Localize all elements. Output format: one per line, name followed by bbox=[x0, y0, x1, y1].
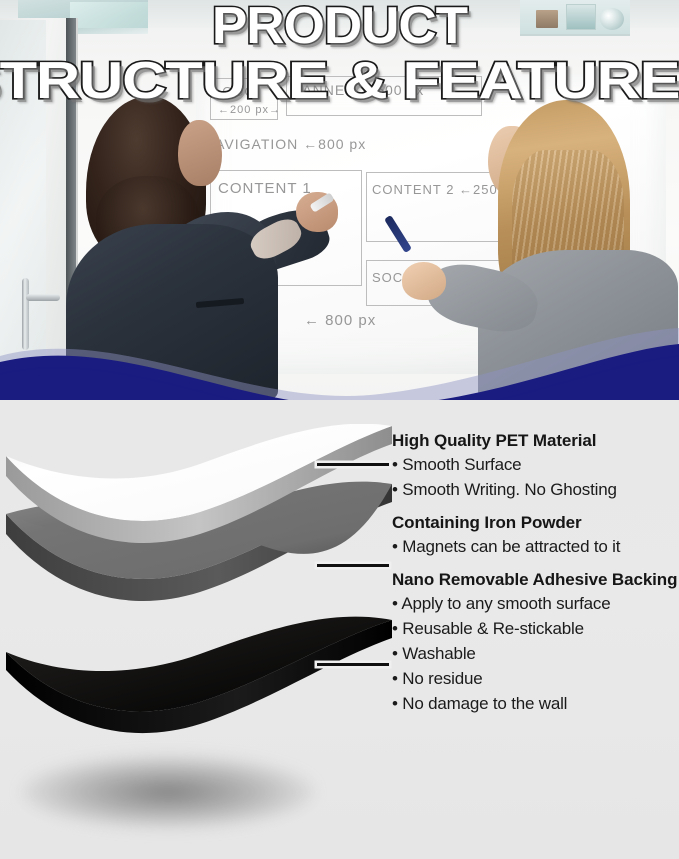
feature-bullet-list: Smooth SurfaceSmooth Writing. No Ghostin… bbox=[392, 452, 679, 502]
page-title: PRODUCT STRUCTURE & FEATURES bbox=[0, 0, 679, 107]
leader-line-pet bbox=[317, 463, 389, 466]
feature-heading: High Quality PET Material bbox=[392, 430, 679, 452]
person-left-body bbox=[66, 224, 278, 400]
leader-line-iron bbox=[317, 564, 389, 567]
person-right-hand bbox=[402, 262, 446, 300]
title-line-2: STRUCTURE & FEATURES bbox=[0, 57, 679, 106]
product-infographic: LOGO←200 px→BANNER ←500 pxNAVIGATION ←80… bbox=[0, 0, 679, 859]
feature-bullet: Smooth Surface bbox=[392, 452, 679, 477]
feature-bullet: Magnets can be attracted to it bbox=[392, 534, 679, 559]
feature-bullet: Apply to any smooth surface bbox=[392, 591, 679, 616]
sheet-black bbox=[6, 617, 392, 733]
leader-line-adhesive bbox=[317, 663, 389, 666]
feature-heading: Nano Removable Adhesive Backing bbox=[392, 569, 679, 591]
feature-bullet: No damage to the wall bbox=[392, 691, 679, 716]
whiteboard-note-8: ← 800 px bbox=[304, 312, 376, 329]
title-line-1: PRODUCT bbox=[0, 2, 679, 51]
feature-block-iron-powder-layer: Containing Iron PowderMagnets can be att… bbox=[392, 512, 679, 559]
feature-block-pet-layer: High Quality PET MaterialSmooth SurfaceS… bbox=[392, 430, 679, 502]
whiteboard-note-4: CONTENT 1 bbox=[218, 180, 312, 197]
feature-bullet: Reusable & Re-stickable bbox=[392, 616, 679, 641]
door-handle-bar bbox=[22, 278, 29, 350]
person-left-face bbox=[178, 120, 222, 186]
whiteboard-note-3: NAVIGATION ←800 px bbox=[204, 136, 366, 152]
feature-block-adhesive-layer: Nano Removable Adhesive BackingApply to … bbox=[392, 569, 679, 716]
feature-bullet: Washable bbox=[392, 641, 679, 666]
feature-text-column: High Quality PET MaterialSmooth SurfaceS… bbox=[392, 430, 679, 726]
feature-bullet: No residue bbox=[392, 666, 679, 691]
feature-heading: Containing Iron Powder bbox=[392, 512, 679, 534]
feature-bullet-list: Magnets can be attracted to it bbox=[392, 534, 679, 559]
feature-bullet: Smooth Writing. No Ghosting bbox=[392, 477, 679, 502]
feature-bullet-list: Apply to any smooth surfaceReusable & Re… bbox=[392, 591, 679, 716]
layer-stack-illustration bbox=[0, 424, 400, 824]
door-handle-lever bbox=[26, 294, 60, 301]
